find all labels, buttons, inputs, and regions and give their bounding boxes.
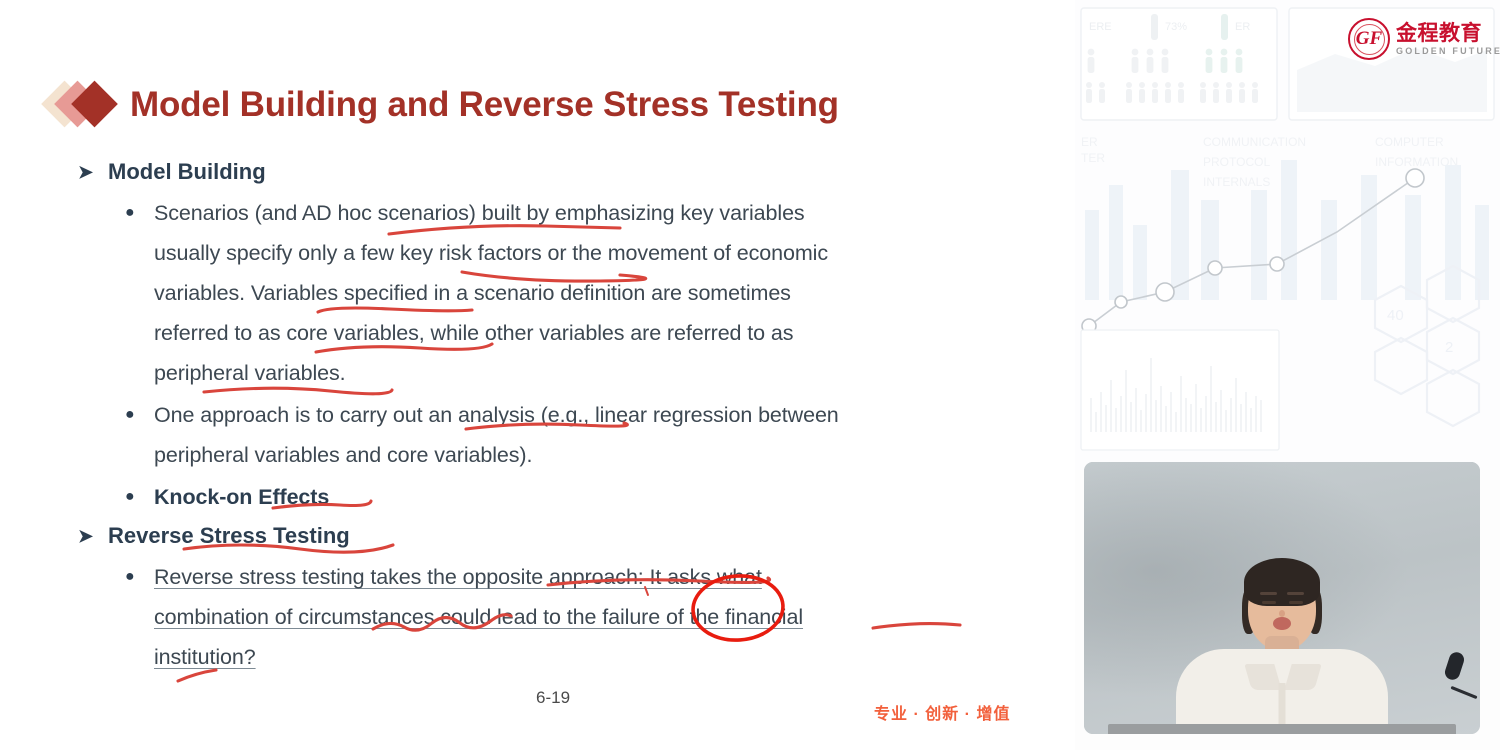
- bullet-line: peripheral variables and core variables)…: [154, 443, 532, 467]
- svg-text:ERE: ERE: [1089, 21, 1112, 33]
- round-bullet-icon: ●: [122, 395, 154, 435]
- eyebrow-left: [1260, 592, 1277, 595]
- bullet-text: Knock-on Effects: [154, 477, 329, 517]
- section-heading-model-building: ➤ Model Building: [78, 155, 1038, 189]
- bullet-line: usually specify only a few key risk fact…: [154, 241, 828, 265]
- instructor-video-panel[interactable]: [1084, 462, 1480, 734]
- bullet-line: institution?: [154, 645, 256, 669]
- logo-text: 金程教育 GOLDEN FUTURE ®: [1396, 23, 1500, 56]
- round-bullet-icon: ●: [122, 477, 154, 517]
- logo-name-en: GOLDEN FUTURE: [1396, 47, 1500, 56]
- bullet-one-approach: ● One approach is to carry out an analys…: [122, 395, 1038, 475]
- page-title: Model Building and Reverse Stress Testin…: [126, 87, 839, 122]
- logo-name-cn: 金程教育: [1396, 23, 1500, 44]
- bullet-line: referred to as core variables, while oth…: [154, 321, 793, 345]
- svg-text:INTERNALS: INTERNALS: [1203, 175, 1270, 189]
- bullet-text: Scenarios (and AD hoc scenarios) built b…: [154, 193, 828, 393]
- bullet-text: One approach is to carry out an analysis…: [154, 395, 839, 475]
- nose: [1279, 610, 1285, 617]
- bullet-line: One approach is to carry out an analysis…: [154, 403, 839, 427]
- arrow-bullet-icon: ➤: [78, 519, 108, 553]
- bullet-line: peripheral variables.: [154, 361, 346, 385]
- svg-text:COMMUNICATION: COMMUNICATION: [1203, 135, 1306, 149]
- brand-logo: GF 金程教育 GOLDEN FUTURE ®: [1348, 18, 1500, 60]
- slide-canvas: Model Building and Reverse Stress Testin…: [0, 0, 1075, 750]
- instructor-figure: [1084, 462, 1480, 734]
- heading-text: Model Building: [108, 155, 266, 189]
- slide-number: 6-19: [536, 688, 570, 708]
- svg-text:COMPUTER: COMPUTER: [1375, 135, 1444, 149]
- slide-title-row: Model Building and Reverse Stress Testin…: [48, 78, 839, 130]
- svg-text:73%: 73%: [1165, 21, 1187, 33]
- bullet-knock-on-effects: ● Knock-on Effects: [122, 477, 1038, 517]
- arrow-bullet-icon: ➤: [78, 155, 108, 189]
- bullet-text: Reverse stress testing takes the opposit…: [154, 557, 803, 677]
- desk-edge: [1108, 724, 1456, 734]
- round-bullet-icon: ●: [122, 557, 154, 597]
- svg-text:PROTOCOL: PROTOCOL: [1203, 155, 1270, 169]
- bullet-line: variables. Variables specified in a scen…: [154, 281, 791, 305]
- section-heading-reverse-stress-testing: ➤ Reverse Stress Testing: [78, 519, 1038, 553]
- logo-seal-icon: GF: [1348, 18, 1390, 60]
- logo-seal-initials: GF: [1350, 20, 1388, 58]
- bullet-scenarios: ● Scenarios (and AD hoc scenarios) built…: [122, 193, 1038, 393]
- mouth: [1273, 617, 1291, 630]
- bullet-reverse-stress-testing: ● Reverse stress testing takes the oppos…: [122, 557, 1038, 677]
- diamond-bullet-icon: [48, 78, 126, 130]
- svg-text:2: 2: [1445, 339, 1453, 356]
- eye-right: [1289, 601, 1303, 604]
- bullet-line: Scenarios (and AD hoc scenarios) built b…: [154, 201, 805, 225]
- slide-body: ➤ Model Building ● Scenarios (and AD hoc…: [78, 155, 1038, 679]
- eyebrow-right: [1287, 592, 1304, 595]
- svg-text:ER: ER: [1235, 21, 1250, 33]
- background-infographic: ERE 73% ER: [1075, 0, 1500, 470]
- presentation-screen: Model Building and Reverse Stress Testin…: [0, 0, 1500, 750]
- svg-text:TER: TER: [1081, 151, 1105, 165]
- heading-text: Reverse Stress Testing: [108, 519, 350, 553]
- round-bullet-icon: ●: [122, 193, 154, 233]
- bullet-line: combination of circumstances could lead …: [154, 605, 803, 629]
- hair-top: [1244, 558, 1320, 606]
- bullet-line: Reverse stress testing takes the opposit…: [154, 565, 762, 589]
- eye-left: [1262, 601, 1276, 604]
- brand-tagline: 专业 · 创新 · 增值: [874, 700, 1010, 724]
- svg-text:40: 40: [1387, 307, 1404, 324]
- svg-text:ER: ER: [1081, 135, 1098, 149]
